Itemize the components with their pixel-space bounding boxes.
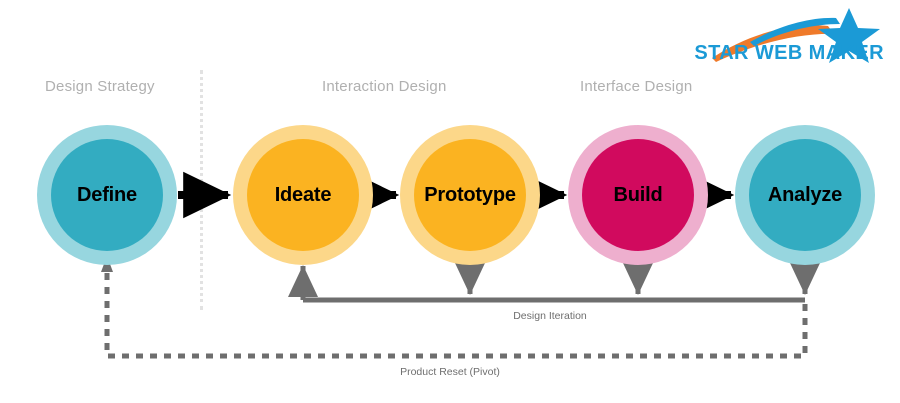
product-reset-label: Product Reset (Pivot) xyxy=(400,366,500,378)
design-iteration-label: Design Iteration xyxy=(512,310,588,322)
node-define-inner: Define xyxy=(51,139,163,251)
node-analyze-inner: Analyze xyxy=(749,139,861,251)
design-process-diagram: STAR WEB MAKER Design Strategy Interacti… xyxy=(0,0,900,403)
node-ideate-label: Ideate xyxy=(275,184,332,207)
node-analyze-label: Analyze xyxy=(768,184,842,207)
node-build-inner: Build xyxy=(582,139,694,251)
node-ideate-inner: Ideate xyxy=(247,139,359,251)
node-define-label: Define xyxy=(77,184,137,207)
node-ideate[interactable]: Ideate xyxy=(233,125,373,265)
node-analyze[interactable]: Analyze xyxy=(735,125,875,265)
node-prototype-inner: Prototype xyxy=(414,139,526,251)
node-define[interactable]: Define xyxy=(37,125,177,265)
node-build[interactable]: Build xyxy=(568,125,708,265)
product-reset-loop xyxy=(101,256,805,356)
node-prototype[interactable]: Prototype xyxy=(400,125,540,265)
design-iteration-loop xyxy=(303,262,805,300)
node-build-label: Build xyxy=(614,184,663,207)
node-prototype-label: Prototype xyxy=(424,184,516,207)
